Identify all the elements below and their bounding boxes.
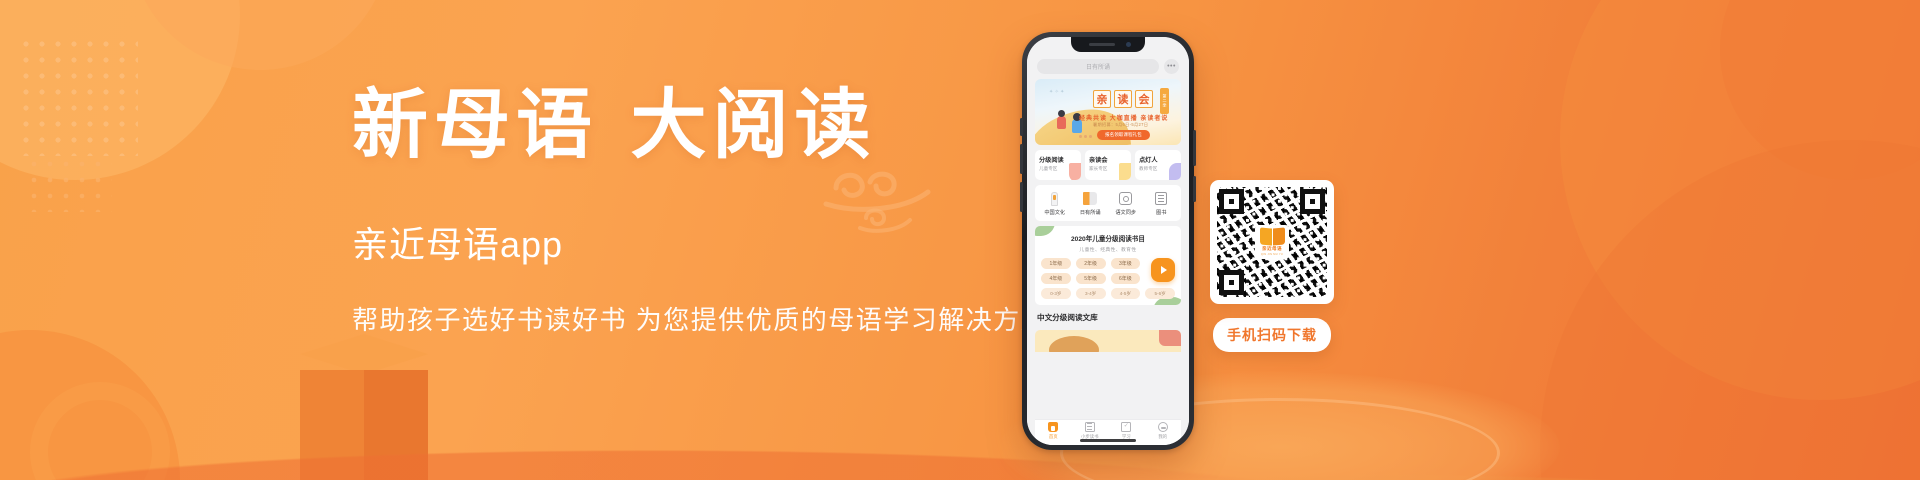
zone-title: 点灯人	[1139, 155, 1177, 164]
qr-finder-top-right	[1300, 189, 1325, 214]
tab-profile[interactable]: 我的	[1147, 422, 1179, 440]
age-button[interactable]: 0-3岁	[1041, 288, 1071, 299]
grade-button[interactable]: 6年级	[1111, 273, 1141, 284]
scan-to-download-button[interactable]: 手机扫码下载	[1213, 318, 1331, 352]
grade-button[interactable]: 3年级	[1111, 258, 1141, 269]
qr-center-logo: 亲近母语 QIN JIN MU YU	[1255, 225, 1289, 259]
hero-subtitle: 经典共读 大咖直播 亲读者说	[1079, 113, 1168, 122]
qr-finder-top-left	[1219, 189, 1244, 214]
hero-carousel-dots[interactable]	[1079, 135, 1092, 138]
library-preview-card[interactable]	[1035, 330, 1181, 352]
quick-link-label: 日有所诵	[1080, 209, 1101, 216]
phone-mute-switch	[1020, 118, 1023, 136]
grade-button[interactable]: 2年级	[1076, 258, 1106, 269]
age-row: 0-3岁 3-4岁 4-5岁 5-6岁	[1041, 288, 1175, 299]
library-section-title: 中文分级阅读文库	[1035, 310, 1181, 323]
age-button[interactable]: 4-5岁	[1111, 288, 1141, 299]
hero-title-char-2: 读	[1114, 90, 1132, 108]
culture-scroll-icon	[1047, 191, 1062, 206]
study-icon	[1121, 422, 1131, 432]
bookmark-yellow-icon	[1119, 163, 1131, 180]
decorative-dot-grid-2	[26, 156, 112, 212]
app-search-row: 日有所诵 •••	[1035, 57, 1181, 74]
home-icon	[1048, 422, 1058, 432]
booklist-title: 2020年儿童分级阅读书目	[1041, 233, 1175, 243]
qr-logo-name: 亲近母语	[1262, 246, 1282, 252]
decorative-wave	[0, 364, 1920, 480]
search-placeholder: 日有所诵	[1086, 62, 1110, 71]
hero-title-char-3: 会	[1135, 90, 1153, 108]
hero-child-figure-1	[1057, 116, 1066, 129]
quick-link-sync[interactable]: 语文同步	[1109, 191, 1143, 216]
decorative-ring	[30, 382, 170, 480]
qr-code-image: 亲近母语 QIN JIN MU YU	[1217, 187, 1327, 297]
quick-link-culture[interactable]: 中国文化	[1038, 191, 1072, 216]
phone-notch	[1071, 37, 1145, 52]
phone-mockup: 日有所诵 ••• ✦ ✧ ✦ 亲 读 会 第二季 经典共读	[1022, 32, 1194, 450]
grade-button[interactable]: 4年级	[1041, 273, 1071, 284]
phone-screen: 日有所诵 ••• ✦ ✧ ✦ 亲 读 会 第二季 经典共读	[1027, 37, 1189, 445]
search-input[interactable]: 日有所诵	[1037, 59, 1159, 74]
open-book-logo-icon	[1260, 228, 1285, 245]
qr-download-block: 亲近母语 QIN JIN MU YU 手机扫码下载	[1210, 180, 1334, 352]
hero-title: 亲 读 会	[1093, 90, 1153, 108]
grade-button[interactable]: 5年级	[1076, 273, 1106, 284]
phone-volume-down	[1020, 182, 1023, 212]
zone-card-row: 分级阅读 儿童专区 亲读会 家长专区 点灯人 教师专区	[1035, 150, 1181, 180]
book-lines-icon	[1154, 191, 1169, 206]
hero-title-char-1: 亲	[1093, 90, 1111, 108]
promo-banner: 新母语 大阅读 亲近母语app 帮助孩子选好书读好书 为您提供优质的母语学习解决…	[0, 0, 1920, 480]
banner-text-column: 新母语 大阅读 亲近母语app 帮助孩子选好书读好书 为您提供优质的母语学习解决…	[352, 86, 1012, 337]
decorative-circle-top-left	[0, 0, 240, 180]
grade-grid: 1年级 2年级 3年级 4年级 5年级 6年级 0-3岁	[1041, 258, 1175, 299]
quick-links-row: 中国文化 日有所诵 语文同步 图书	[1035, 185, 1181, 221]
tab-reading[interactable]: 小步读书	[1074, 422, 1106, 440]
hero-season-flag: 第二季	[1160, 88, 1169, 114]
age-button[interactable]: 5-6岁	[1145, 288, 1175, 299]
decorative-circle-right-2	[1540, 140, 1920, 480]
decorative-circle-bottom-left	[0, 330, 180, 480]
quick-link-books[interactable]: 图书	[1144, 191, 1178, 216]
booklist-subtitle: 儿童性、经典性、教育性	[1041, 246, 1175, 253]
book-icon	[1085, 422, 1095, 432]
zone-card-graded-reading[interactable]: 分级阅读 儿童专区	[1035, 150, 1081, 180]
hero-promo-card[interactable]: ✦ ✧ ✦ 亲 读 会 第二季 经典共读 大咖直播 亲读者说 暑期招募：5月6日…	[1035, 79, 1181, 145]
tab-label: 首页	[1049, 434, 1058, 440]
play-video-icon[interactable]	[1151, 258, 1175, 282]
phone-volume-up	[1020, 144, 1023, 174]
phone-home-indicator	[1080, 439, 1136, 442]
profile-icon	[1158, 422, 1168, 432]
qr-code-card[interactable]: 亲近母语 QIN JIN MU YU	[1210, 180, 1334, 304]
app-home-screen: 日有所诵 ••• ✦ ✧ ✦ 亲 读 会 第二季 经典共读	[1027, 37, 1189, 445]
quick-link-daily-recite[interactable]: 日有所诵	[1073, 191, 1107, 216]
tab-study[interactable]: 学习	[1110, 422, 1142, 440]
decorative-circle-top-left-2	[130, 0, 390, 70]
library-tag-decoration	[1159, 330, 1181, 346]
decorative-circle-far-right	[1720, 0, 1920, 180]
banner-headline: 新母语 大阅读	[352, 86, 1012, 164]
open-book-icon	[1083, 191, 1098, 206]
booklist-card: 2020年儿童分级阅读书目 儿童性、经典性、教育性 1年级 2年级 3年级 4年…	[1035, 226, 1181, 305]
hero-cta-button[interactable]: 报名领取课程礼包	[1097, 130, 1150, 140]
qr-logo-pinyin: QIN JIN MU YU	[1261, 253, 1283, 256]
zone-card-parent-club[interactable]: 亲读会 家长专区	[1085, 150, 1131, 180]
tab-label: 我的	[1158, 434, 1167, 440]
library-arc-decoration	[1049, 336, 1099, 352]
grade-button[interactable]: 1年级	[1041, 258, 1071, 269]
hero-birds-icon: ✦ ✧ ✦	[1049, 89, 1064, 95]
decorative-cube	[300, 352, 428, 480]
decorative-wave-2	[0, 360, 1920, 480]
tab-home[interactable]: 首页	[1037, 422, 1069, 440]
banner-tagline: 帮助孩子选好书读好书 为您提供优质的母语学习解决方案	[352, 300, 1012, 337]
decorative-dot-grid	[18, 36, 138, 156]
decorative-circle-right	[1560, 0, 1920, 400]
qr-finder-bottom-left	[1219, 270, 1244, 295]
banner-subtitle: 亲近母语app	[352, 216, 1012, 268]
zone-card-teacher[interactable]: 点灯人 教师专区	[1135, 150, 1181, 180]
bookmark-red-icon	[1069, 163, 1081, 180]
bookmark-purple-icon	[1169, 163, 1181, 180]
sync-circle-icon	[1118, 191, 1133, 206]
hero-date: 暑期招募：5月6日-5月27日	[1093, 122, 1148, 128]
more-options-icon[interactable]: •••	[1164, 59, 1179, 74]
quick-link-label: 中国文化	[1044, 209, 1065, 216]
quick-link-label: 语文同步	[1115, 209, 1136, 216]
quick-link-label: 图书	[1156, 209, 1166, 216]
age-button[interactable]: 3-4岁	[1076, 288, 1106, 299]
